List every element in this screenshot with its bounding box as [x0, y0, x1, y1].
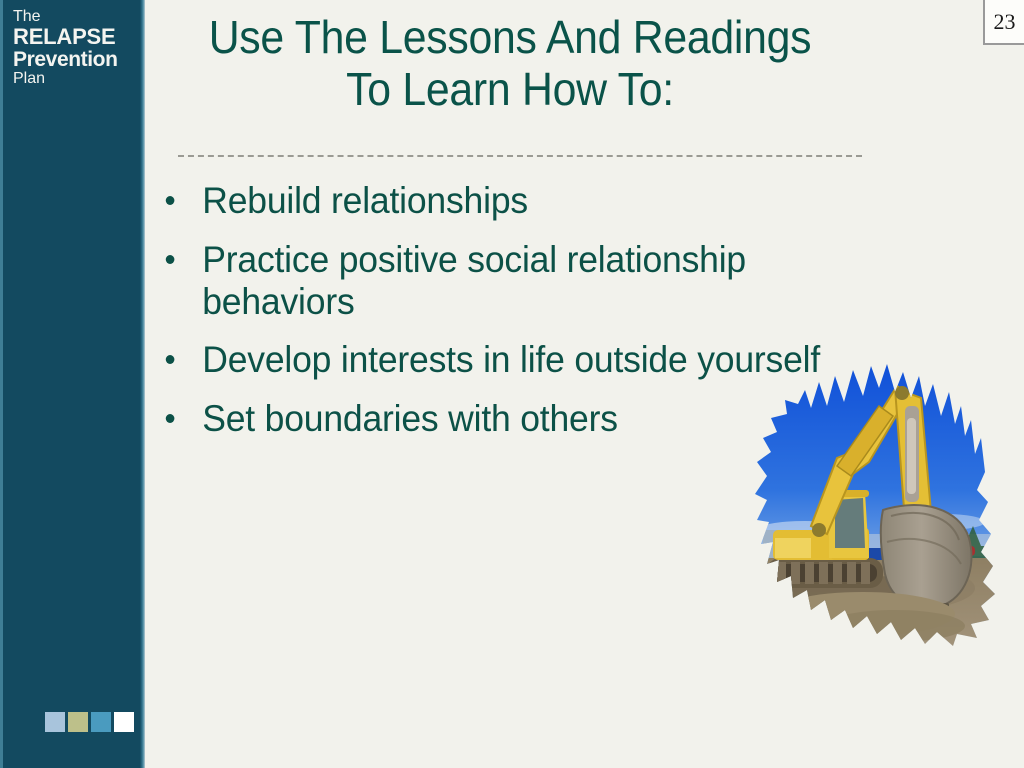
- bullet-dot-icon: [166, 355, 175, 364]
- swatch-white: [114, 712, 134, 732]
- sidebar-left-stripe: [0, 0, 3, 768]
- swatch-light-blue: [45, 712, 65, 732]
- list-item: Set boundaries with others: [160, 398, 832, 440]
- list-item: Practice positive social relationship be…: [160, 239, 832, 323]
- list-item-label: Set boundaries with others: [202, 398, 618, 439]
- list-item-label: Rebuild relationships: [202, 180, 528, 221]
- swatch-khaki: [68, 712, 88, 732]
- list-item: Develop interests in life outside yourse…: [160, 339, 832, 381]
- page-number: 23: [994, 9, 1016, 35]
- list-item-label: Develop interests in life outside yourse…: [202, 339, 820, 380]
- logo-line-prevention: Prevention: [13, 49, 135, 70]
- page-title: Use The Lessons And Readings To Learn Ho…: [175, 12, 845, 115]
- logo-line-the: The: [13, 9, 135, 25]
- page-title-line-2: To Learn How To:: [175, 64, 845, 116]
- sidebar-right-stripe: [140, 0, 145, 768]
- slide: The RELAPSE Prevention Plan 23 Use The L…: [0, 0, 1024, 768]
- logo-line-plan: Plan: [13, 71, 135, 87]
- list-item: Rebuild relationships: [160, 180, 832, 222]
- bullet-dot-icon: [166, 196, 175, 205]
- title-divider: [178, 155, 862, 157]
- swatch-blue: [91, 712, 111, 732]
- page-title-line-1: Use The Lessons And Readings: [175, 12, 845, 64]
- bullet-dot-icon: [166, 255, 175, 264]
- color-swatch-row: [45, 712, 134, 732]
- page-number-badge: 23: [983, 0, 1024, 45]
- list-item-label: Practice positive social relationship be…: [202, 239, 746, 322]
- bullet-list: Rebuild relationships Practice positive …: [160, 180, 860, 457]
- sidebar: The RELAPSE Prevention Plan: [0, 0, 145, 768]
- bullet-dot-icon: [166, 414, 175, 423]
- brand-logo: The RELAPSE Prevention Plan: [13, 9, 135, 87]
- logo-line-relapse: RELAPSE: [13, 26, 135, 48]
